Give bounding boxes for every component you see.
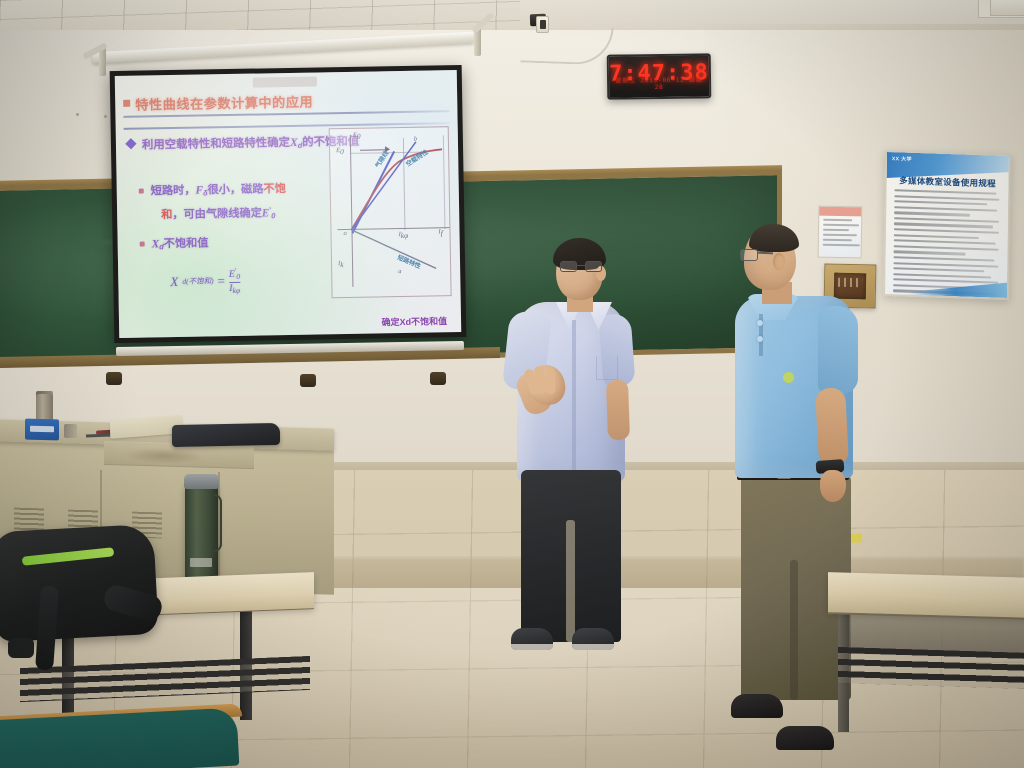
ceiling-vent — [990, 0, 1024, 16]
board-magnet — [300, 374, 316, 387]
listener-polo-logo — [783, 372, 794, 383]
listener-sleeve — [818, 306, 858, 394]
formula-fraction: E'0 Ikφ — [229, 267, 241, 295]
wall-plaque-inner — [834, 273, 867, 300]
wall-notice-small — [818, 206, 863, 259]
poster-body-text — [893, 189, 1001, 300]
presenter-finger — [546, 367, 556, 394]
presenter-shoe-left — [511, 628, 553, 650]
eyeglass-temple — [757, 252, 773, 254]
slide-title: 特性曲线在参数计算中的应用 — [135, 92, 313, 114]
green-bottle-label — [190, 558, 212, 567]
formula-lhs-subscript: d(不饱和) — [182, 276, 213, 288]
bullet1-line2-b: ，可由气隙线确定 — [172, 207, 262, 221]
blue-box — [25, 419, 59, 441]
chart-label-if: If — [438, 228, 442, 237]
listener-hand — [820, 470, 846, 502]
slide-chart: E0 E0 o Ikφ If Ik b a 气隙线 空载特性 短路特性 — [329, 126, 452, 298]
slide-chart-caption: 确定Xd不饱和值 — [381, 314, 447, 328]
listener-polo-button — [757, 320, 763, 326]
black-laptop-bag — [172, 423, 280, 447]
led-wall-clock: 7:47:38 星期三 2019-06-12 温度 28 — [607, 53, 712, 99]
presenter-shirt-pocket — [596, 356, 618, 380]
poster-logo: XX 大学 — [892, 155, 912, 163]
listener-shoe-right — [776, 726, 834, 750]
wall-poster: XX 大学 多媒体教室设备使用规程 — [883, 150, 1011, 300]
formula-lhs-symbol: X — [170, 274, 178, 290]
bullet1-symbol-E-sub: 0 — [271, 211, 275, 220]
listener-polo-button — [757, 336, 763, 342]
presenter-shirt-placket — [572, 320, 576, 480]
wall-nail — [104, 115, 107, 118]
bullet1-highlight: 不饱 — [263, 183, 286, 195]
listener-eyeglasses — [740, 249, 770, 262]
classroom-photo: 特性曲线在参数计算中的应用 利用空载特性和短路特性确定Xd的不饱和值 短路时，F… — [0, 0, 1024, 768]
eyeglass-lens-left — [560, 261, 577, 272]
eyeglass-lens — [740, 249, 758, 261]
board-magnet — [430, 372, 446, 385]
presenter-leg-gap — [566, 520, 575, 642]
slide-header-chip — [253, 76, 317, 87]
formula-numerator: E'0 — [229, 267, 240, 281]
green-bottle-cap — [184, 474, 219, 489]
wall-nail — [76, 113, 79, 116]
chart-noload-curve — [330, 127, 453, 299]
presenter-eyeglasses — [560, 261, 602, 273]
bullet1-line2-a: 和 — [161, 209, 172, 221]
bullet1-text-b: 很小，磁路 — [207, 183, 263, 196]
green-bottle-strap — [214, 494, 222, 552]
slide-title-bullet-icon — [123, 100, 130, 107]
clock-date-display: 星期三 2019-06-12 温度 28 — [609, 74, 709, 91]
student-desk-right — [828, 572, 1024, 618]
listener-shoe-left — [731, 694, 783, 718]
chart-label-point-b: b — [414, 136, 417, 143]
chart-label-point-a: a — [398, 268, 401, 275]
slide-bullet-1-line-1: 短路时，Fδ很小，磁路不饱 — [151, 180, 286, 198]
bullet-marker-1 — [139, 189, 144, 194]
poster-title: 多媒体教室设备使用规程 — [887, 174, 1009, 190]
slide-bullet-2: Xd不饱和值 — [152, 234, 209, 251]
slide-formula: Xd(不饱和) = E'0 Ikφ — [170, 267, 240, 296]
projection-screen: 特性曲线在参数计算中的应用 利用空载特性和短路特性确定Xd的不饱和值 短路时，F… — [110, 65, 467, 343]
presentation-slide: 特性曲线在参数计算中的应用 利用空载特性和短路特性确定Xd的不饱和值 短路时，F… — [115, 70, 462, 338]
slide-subtitle-bullet-icon — [125, 138, 136, 149]
formula-denominator: Ikφ — [229, 284, 240, 295]
board-magnet — [106, 372, 122, 385]
slide-subtitle: 利用空载特性和短路特性确定Xd的不饱和值 — [142, 133, 360, 153]
slide-subtitle-symbol: X — [290, 137, 298, 149]
slide-bullet-1-line-2: 和，可由气隙线确定E'0 — [161, 204, 275, 222]
listener-forearm — [815, 387, 849, 466]
backpack-buckle — [8, 638, 34, 658]
chart-label-origin: o — [343, 230, 346, 237]
listener-ear — [773, 253, 785, 270]
bullet1-text-a: 短路时， — [151, 185, 196, 198]
chart-label-ikphi: Ikφ — [398, 231, 408, 240]
bullet-marker-2 — [140, 242, 145, 247]
bullet2-text: 不饱和值 — [164, 237, 209, 250]
desk-right-book-rack — [838, 647, 1024, 689]
chart-label-y-top: E0 — [353, 132, 361, 141]
slide-subtitle-lead: 利用空载特性和短路特性确定 — [142, 137, 290, 152]
backpack — [0, 524, 159, 642]
presenter-shoe-right — [572, 628, 614, 650]
chart-label-ik: Ik — [338, 260, 344, 269]
small-container — [64, 424, 77, 438]
formula-equals: = — [217, 273, 225, 289]
eyeglass-bridge — [577, 265, 585, 266]
eyeglass-lens-right — [585, 261, 602, 272]
chart-label-e0: E0 — [336, 147, 344, 156]
podium-stain — [124, 447, 204, 465]
presenter-right-forearm — [606, 380, 630, 441]
listener-leg-gap — [790, 560, 798, 700]
